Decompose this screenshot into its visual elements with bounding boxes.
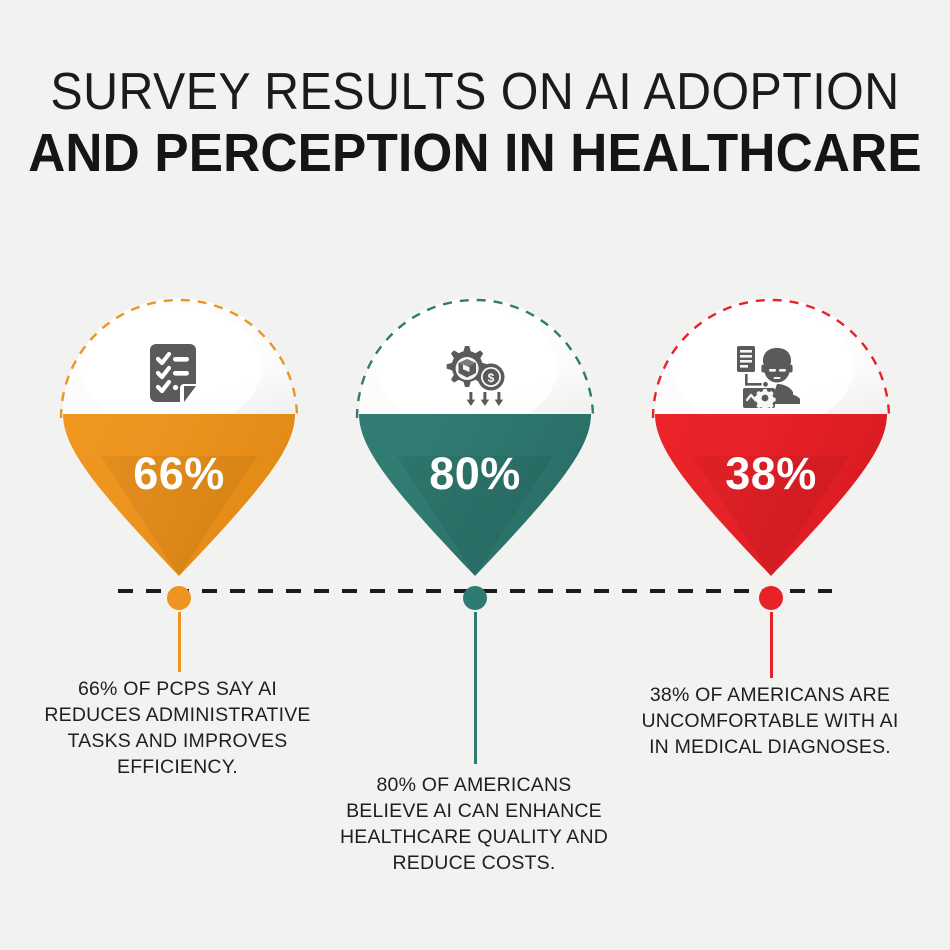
timeline-dot-3[interactable]	[759, 586, 783, 610]
stat-value-1: 66%	[63, 448, 295, 500]
infographic-canvas: SURVEY RESULTS ON AI ADOPTION AND PERCEP…	[0, 0, 950, 950]
gear-cost-reduction-icon: $	[359, 344, 591, 413]
timeline-dot-2[interactable]	[463, 586, 487, 610]
pin-shape-3	[655, 298, 887, 576]
title-line-2: AND PERCEPTION IN HEALTHCARE	[24, 122, 927, 184]
connector-stem-2	[474, 612, 477, 764]
timeline-dot-1[interactable]	[167, 586, 191, 610]
svg-text:$: $	[488, 371, 495, 385]
page-title: SURVEY RESULTS ON AI ADOPTION AND PERCEP…	[0, 62, 950, 184]
pin-shape-2	[359, 298, 591, 576]
stat-value-3: 38%	[655, 448, 887, 500]
caption-2: 80% OF AMERICANS BELIEVE AI CAN ENHANCE …	[339, 772, 609, 876]
doctor-ai-diagnosis-icon	[655, 344, 887, 413]
title-line-1: SURVEY RESULTS ON AI ADOPTION	[33, 62, 917, 122]
stat-pin-2[interactable]: $ 80%	[359, 298, 591, 576]
stat-value-2: 80%	[359, 448, 591, 500]
caption-1: 66% OF PCPS SAY AI REDUCES ADMINISTRATIV…	[27, 676, 328, 780]
stat-pin-1[interactable]: 66%	[63, 298, 295, 576]
caption-3: 38% OF AMERICANS ARE UNCOMFORTABLE WITH …	[634, 682, 906, 760]
checklist-document-icon	[63, 344, 295, 413]
connector-stem-1	[178, 612, 181, 672]
stat-pin-3[interactable]: 38%	[655, 298, 887, 576]
pin-shape-1	[63, 298, 295, 576]
connector-stem-3	[770, 612, 773, 678]
